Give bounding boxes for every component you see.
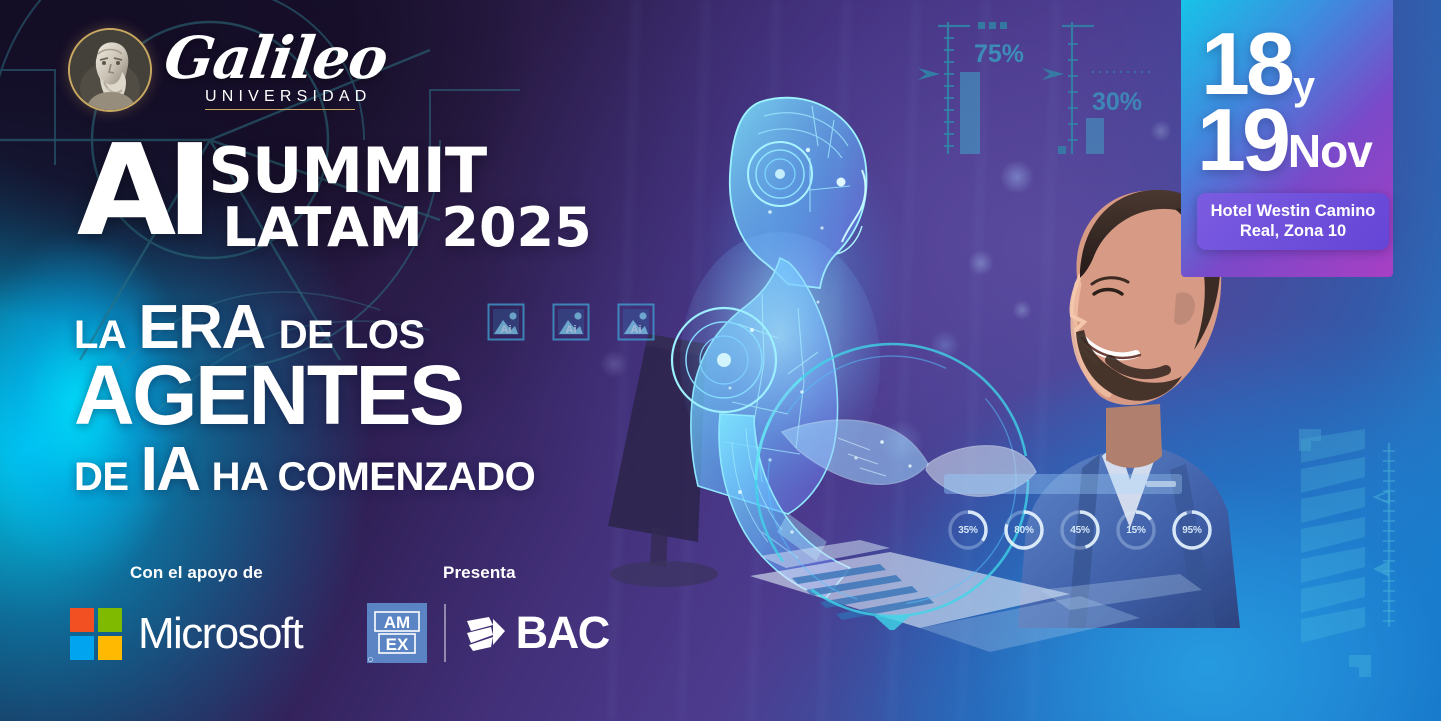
bac-chevron-mark-icon — [463, 611, 507, 655]
date-panel: 18 y 19 Nov Hotel Westin Camino Real, Zo… — [1181, 0, 1393, 277]
microsoft-wordmark: Microsoft — [138, 609, 302, 659]
bac-logo: BAC — [463, 607, 609, 659]
tagline-line-3: DE IA HA COMENZADO — [74, 434, 535, 505]
date-month: Nov — [1288, 128, 1372, 174]
date-day-19: 19 — [1197, 104, 1287, 176]
right-edge-decor — [1283, 401, 1433, 721]
amex-logo: AM EX — [367, 603, 427, 663]
gauge-label-75: 75% — [974, 40, 1024, 68]
logo-name: Galileo — [161, 29, 391, 87]
hud-progress-rings: 35% 80% 45% 15% 95% — [946, 508, 1214, 552]
tagline-de: DE — [74, 455, 129, 500]
ring-label: 15% — [1114, 508, 1158, 552]
amex-line1: AM — [384, 613, 410, 632]
tagline-ha-comenzado: HA COMENZADO — [212, 455, 536, 500]
ai-summit-banner: 75% 30% — [0, 0, 1441, 721]
svg-text:Ai: Ai — [566, 324, 577, 336]
progress-ring-15: 15% — [1114, 508, 1158, 552]
date-row-second: 19 Nov — [1197, 104, 1372, 176]
svg-text:Ai: Ai — [631, 324, 642, 336]
tagline-ia: IA — [141, 434, 200, 505]
ring-label: 35% — [946, 508, 990, 552]
title-lines: SUMMIT LATAM 2025 — [208, 136, 591, 255]
hud-progress-bar — [944, 474, 1182, 494]
progress-ring-95: 95% — [1170, 508, 1214, 552]
tagline-agentes: AGENTES — [74, 355, 463, 436]
tagline-line-2: AGENTES — [74, 355, 535, 436]
hud-gauges: 75% 30% — [900, 4, 1190, 164]
gauge-label-30: 30% — [1092, 88, 1142, 116]
event-title: AI SUMMIT LATAM 2025 — [78, 136, 592, 255]
ai-image-icon: Ai — [552, 303, 590, 341]
progress-ring-45: 45% — [1058, 508, 1102, 552]
progress-ring-80: 80% — [1002, 508, 1046, 552]
ring-label: 80% — [1002, 508, 1046, 552]
support-label: Con el apoyo de — [130, 563, 263, 583]
venue-badge: Hotel Westin Camino Real, Zona 10 — [1197, 193, 1389, 250]
date-conjunction: y — [1293, 66, 1315, 106]
ai-mark: AI — [77, 136, 204, 247]
bac-wordmark: BAC — [516, 607, 609, 659]
microsoft-squares-icon — [70, 608, 122, 660]
presents-label: Presenta — [443, 563, 516, 583]
ring-label: 95% — [1170, 508, 1214, 552]
ring-label: 45% — [1058, 508, 1102, 552]
progress-ring-35: 35% — [946, 508, 990, 552]
logo-wordmark: Galileo UNIVERSIDAD — [165, 29, 387, 112]
presenting-sponsors: AM EX BAC — [367, 603, 609, 663]
title-summit: SUMMIT — [208, 142, 591, 199]
title-latam-year: LATAM 2025 — [222, 201, 591, 255]
galileo-bust-portrait-icon — [68, 28, 152, 112]
amex-line2: EX — [386, 635, 409, 654]
ai-image-icon: Ai — [617, 303, 655, 341]
microsoft-logo: Microsoft — [70, 608, 302, 660]
tagline: LA ERA DE LOS AGENTES DE IA HA COMENZADO — [74, 296, 535, 505]
sponsor-divider — [444, 604, 446, 662]
galileo-universidad-logo: Galileo UNIVERSIDAD — [68, 28, 387, 112]
